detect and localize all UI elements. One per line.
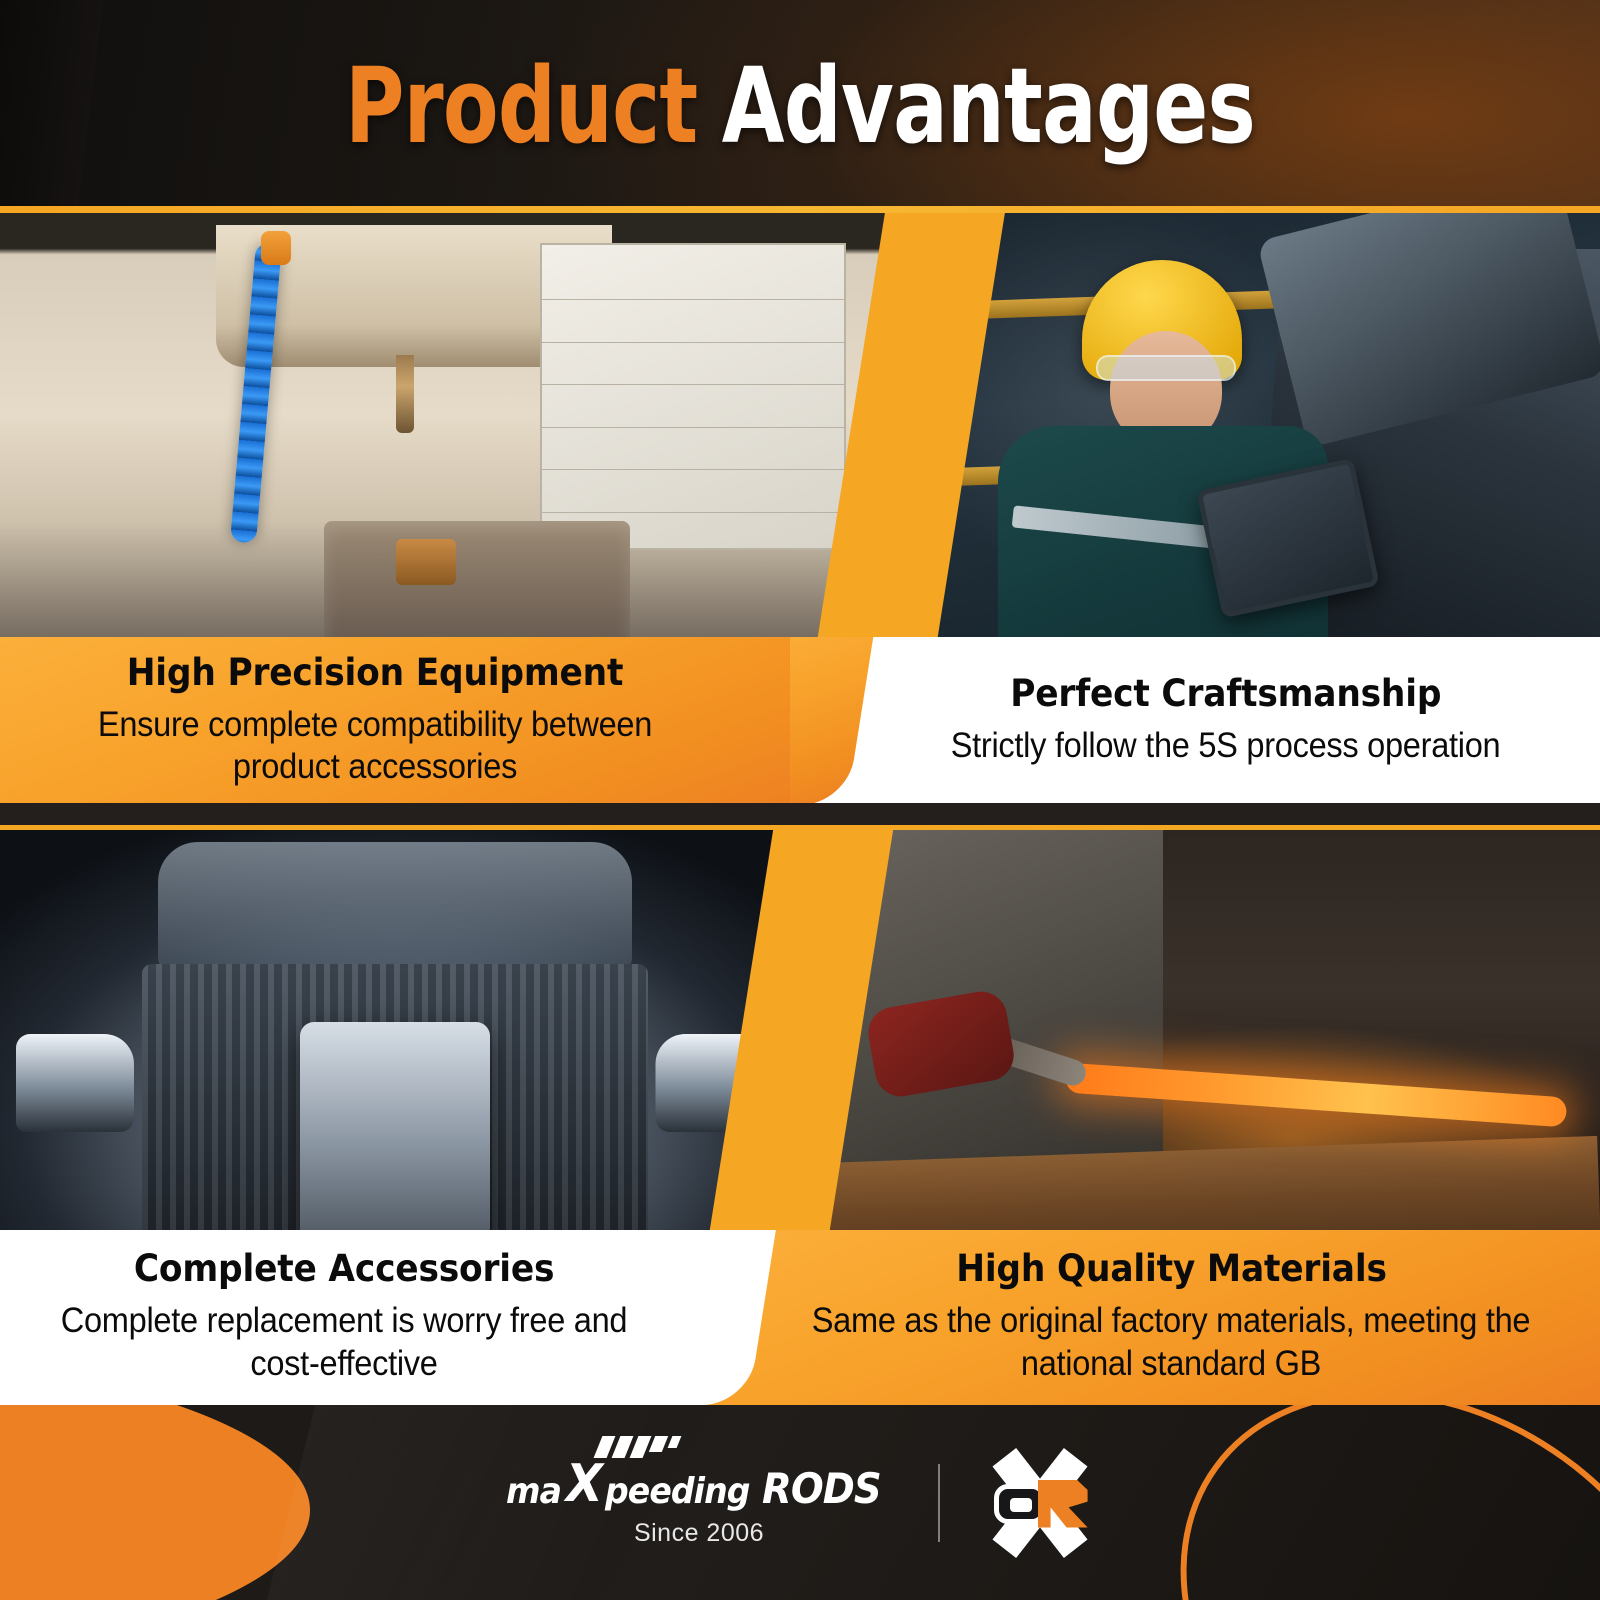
- brand-suffix: RODS: [762, 1468, 881, 1510]
- product-advantages-poster: Product Advantages: [0, 0, 1600, 1600]
- footer-bar: ma X peeding RODS Since 2006: [0, 1405, 1600, 1600]
- checkered-flag-icon: [598, 1436, 679, 1458]
- brand-x-letter: X: [566, 1458, 602, 1510]
- footer-divider: [938, 1464, 940, 1542]
- card-caption-high-precision-equipment: High Precision Equipment Ensure complete…: [0, 637, 812, 805]
- header-divider-rule: [0, 206, 1600, 213]
- x-badge-icon[interactable]: [986, 1450, 1094, 1556]
- brand-tagline: Since 2006: [634, 1519, 764, 1548]
- row-separator-band: [0, 803, 1600, 825]
- card-title-complete-accessories: Complete Accessories: [134, 1249, 555, 1290]
- card-caption-perfect-craftsmanship: Perfect Craftsmanship Strictly follow th…: [790, 637, 1600, 805]
- page-title-main: Advantages: [722, 54, 1255, 158]
- brand-prefix: ma: [506, 1474, 561, 1510]
- brand-logo[interactable]: ma X peeding RODS Since 2006: [506, 1458, 891, 1548]
- card-caption-complete-accessories: Complete Accessories Complete replacemen…: [0, 1230, 730, 1405]
- card-description-complete-accessories: Complete replacement is worry free and c…: [50, 1300, 638, 1385]
- card-description-high-quality-materials: Same as the original factory materials, …: [798, 1300, 1544, 1385]
- brand-mid: peeding: [605, 1474, 750, 1510]
- card-title-high-precision-equipment: High Precision Equipment: [127, 653, 624, 694]
- card-title-perfect-craftsmanship: Perfect Craftsmanship: [1010, 674, 1441, 715]
- card-description-perfect-craftsmanship: Strictly follow the 5S process operation: [951, 725, 1501, 768]
- page-title-accent: Product: [345, 54, 697, 158]
- header-banner: Product Advantages: [0, 0, 1600, 212]
- badge-letter-r: [1038, 1480, 1088, 1528]
- card-title-high-quality-materials: High Quality Materials: [956, 1249, 1387, 1290]
- card-caption-high-quality-materials: High Quality Materials Same as the origi…: [690, 1230, 1600, 1405]
- page-title: Product Advantages: [176, 0, 1424, 212]
- card-description-high-precision-equipment: Ensure complete compatibility between pr…: [52, 704, 697, 789]
- whiteboard-prop: [540, 243, 846, 551]
